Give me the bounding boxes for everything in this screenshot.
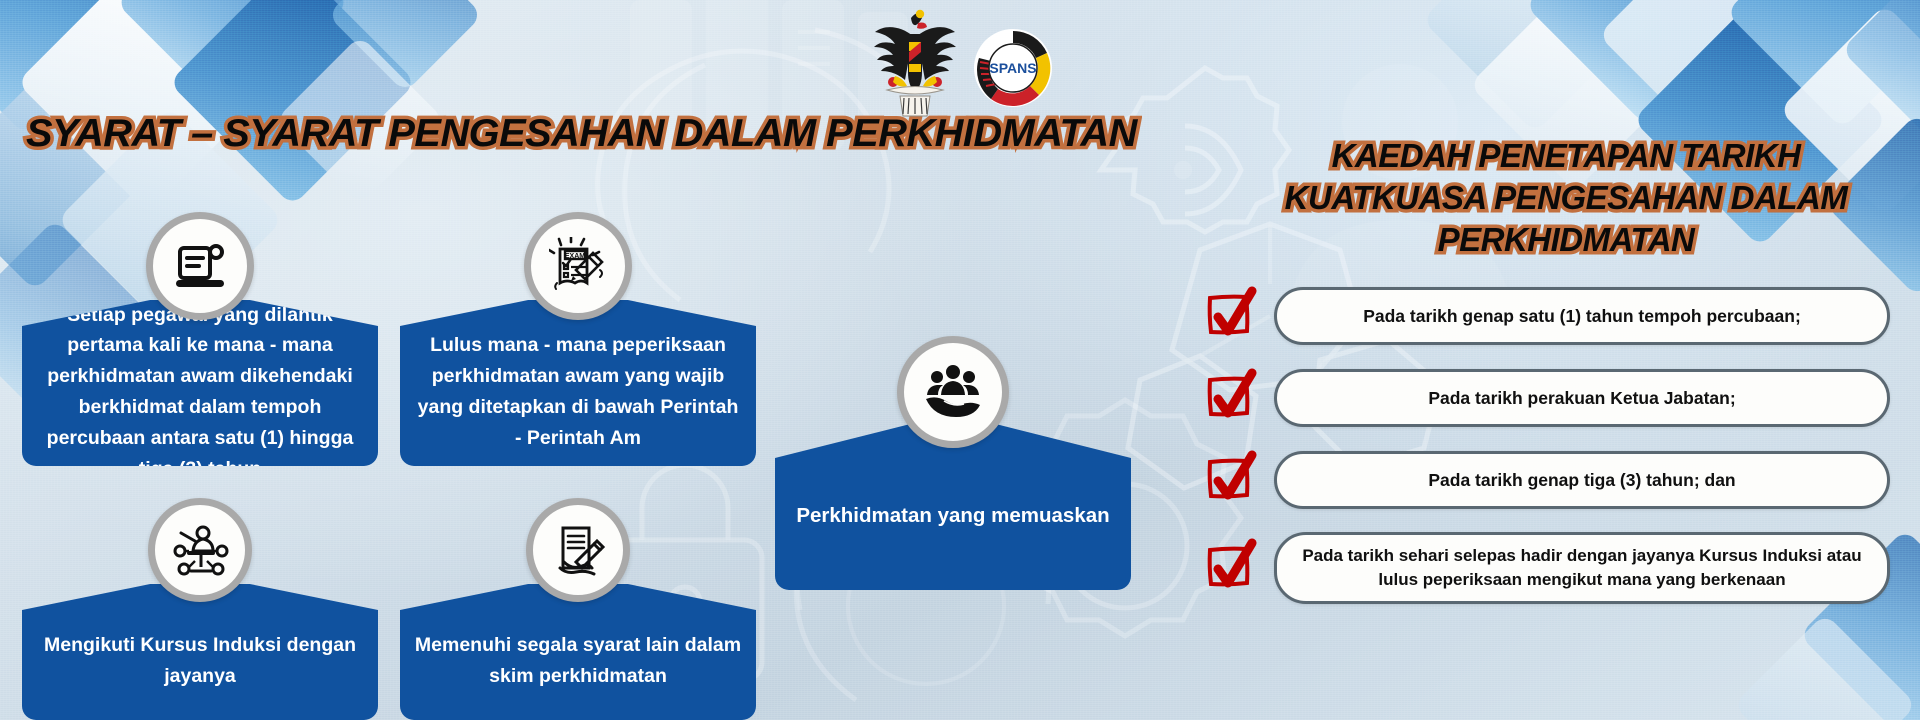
- condition-card-3: Mengikuti Kursus Induksi dengan jayanya: [22, 584, 378, 720]
- sarawak-state-crest: [867, 6, 963, 123]
- checklist-item-text: Pada tarikh genap satu (1) tahun tempoh …: [1274, 287, 1890, 345]
- condition-card-5-body: Perkhidmatan yang memuaskan: [775, 424, 1131, 590]
- exam-paper-icon: EXAM: [524, 212, 632, 320]
- id-badge-icon: [146, 212, 254, 320]
- condition-card-1-body: Setiap pegawai yang dilantik pertama kal…: [22, 300, 378, 466]
- checklist-item-text: Pada tarikh genap tiga (3) tahun; dan: [1274, 451, 1890, 509]
- svg-text:EXAM: EXAM: [565, 253, 585, 260]
- condition-card-5: Perkhidmatan yang memuaskan: [775, 424, 1131, 590]
- red-checkbox-icon: [1200, 450, 1260, 510]
- condition-card-3-text: Mengikuti Kursus Induksi dengan jayanya: [36, 612, 364, 692]
- document-signature-icon: [526, 498, 630, 602]
- page-title-right-line2: KUATKUASA PENGESAHAN DALAM: [1236, 177, 1896, 219]
- red-checkbox-icon: [1200, 368, 1260, 428]
- page-title-right: KAEDAH PENETAPAN TARIKH KUATKUASA PENGES…: [1236, 135, 1896, 262]
- condition-card-2-body: Lulus mana - mana peperiksaan perkhidmat…: [400, 300, 756, 466]
- checklist-item: Pada tarikh perakuan Ketua Jabatan;: [1200, 368, 1890, 428]
- page-title-right-line3: PERKHIDMATAN: [1236, 219, 1896, 261]
- checklist-item-text: Pada tarikh sehari selepas hadir dengan …: [1274, 532, 1890, 604]
- red-checkbox-icon: [1200, 538, 1260, 598]
- condition-card-1: Setiap pegawai yang dilantik pertama kal…: [22, 300, 378, 466]
- red-checkbox-icon: [1200, 286, 1260, 346]
- checklist-item: Pada tarikh sehari selepas hadir dengan …: [1200, 532, 1890, 604]
- condition-card-4: Memenuhi segala syarat lain dalam skim p…: [400, 584, 756, 720]
- effective-date-checklist: Pada tarikh genap satu (1) tahun tempoh …: [1200, 286, 1890, 604]
- condition-card-4-body: Memenuhi segala syarat lain dalam skim p…: [400, 584, 756, 720]
- condition-card-3-body: Mengikuti Kursus Induksi dengan jayanya: [22, 584, 378, 720]
- condition-card-4-text: Memenuhi segala syarat lain dalam skim p…: [414, 612, 742, 692]
- condition-card-5-text: Perkhidmatan yang memuaskan: [796, 481, 1109, 534]
- spans-logo-text: SPANS: [989, 60, 1036, 76]
- logo-group: SPANS: [867, 6, 1053, 123]
- condition-card-2: EXAM Lulus mana - mana peperiksaan perkh…: [400, 300, 756, 466]
- checklist-item: Pada tarikh genap satu (1) tahun tempoh …: [1200, 286, 1890, 346]
- checklist-item-text: Pada tarikh perakuan Ketua Jabatan;: [1274, 369, 1890, 427]
- training-presentation-icon: [148, 498, 252, 602]
- spans-logo: SPANS: [973, 28, 1053, 113]
- page-title-right-line1: KAEDAH PENETAPAN TARIKH: [1236, 135, 1896, 177]
- people-in-hand-icon: [897, 336, 1009, 448]
- checklist-item: Pada tarikh genap tiga (3) tahun; dan: [1200, 450, 1890, 510]
- condition-card-2-text: Lulus mana - mana peperiksaan perkhidmat…: [414, 312, 742, 453]
